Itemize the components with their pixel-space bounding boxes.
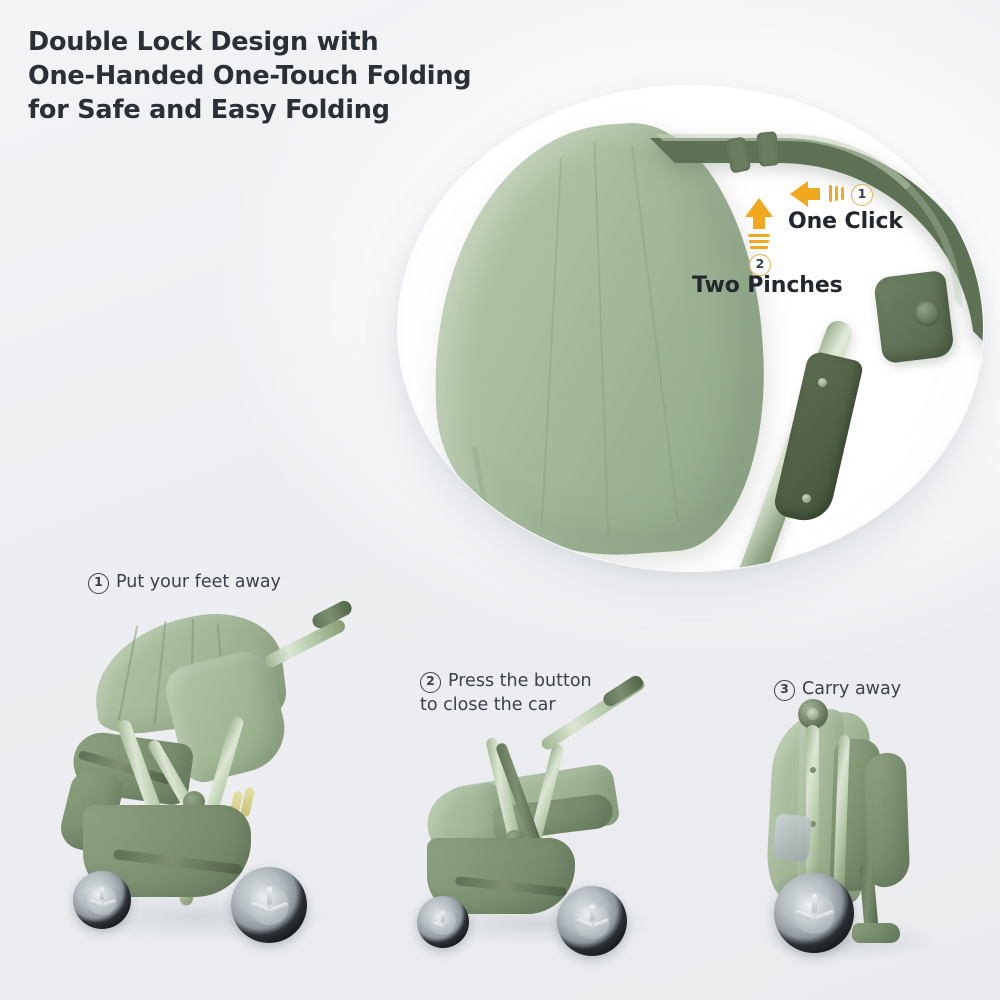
arrow-up-icon xyxy=(745,198,773,232)
stroller-collapsing xyxy=(405,680,665,950)
page-title: Double Lock Design with One-Handed One-T… xyxy=(28,26,471,128)
stroller-upright xyxy=(55,595,345,950)
step-1-text: Put your feet away xyxy=(116,572,281,592)
bracket-rivet xyxy=(818,378,827,387)
motion-dash xyxy=(749,240,769,243)
folding-mechanism-closeup xyxy=(398,86,983,571)
product-feature-banner: Double Lock Design with One-Handed One-T… xyxy=(0,0,1000,1000)
callout-label-two-pinches: Two Pinches xyxy=(692,273,843,298)
callout-number-1: 1 xyxy=(851,184,873,206)
motion-dash xyxy=(750,246,768,249)
bracket-rivet xyxy=(802,494,811,503)
motion-dash xyxy=(835,186,838,201)
step-1-number: 1 xyxy=(88,573,109,594)
hinge-bolt xyxy=(914,300,940,326)
motion-dash xyxy=(829,185,832,202)
step-1-caption: 1Put your feet away xyxy=(88,546,281,594)
motion-dash xyxy=(841,187,844,200)
handlebar-collar xyxy=(756,131,779,167)
stroller-folded xyxy=(740,695,960,955)
arrow-left-icon xyxy=(790,181,824,207)
canopy-edge xyxy=(472,408,720,571)
motion-dash xyxy=(748,234,770,237)
callout-label-one-click: One Click xyxy=(788,209,903,234)
